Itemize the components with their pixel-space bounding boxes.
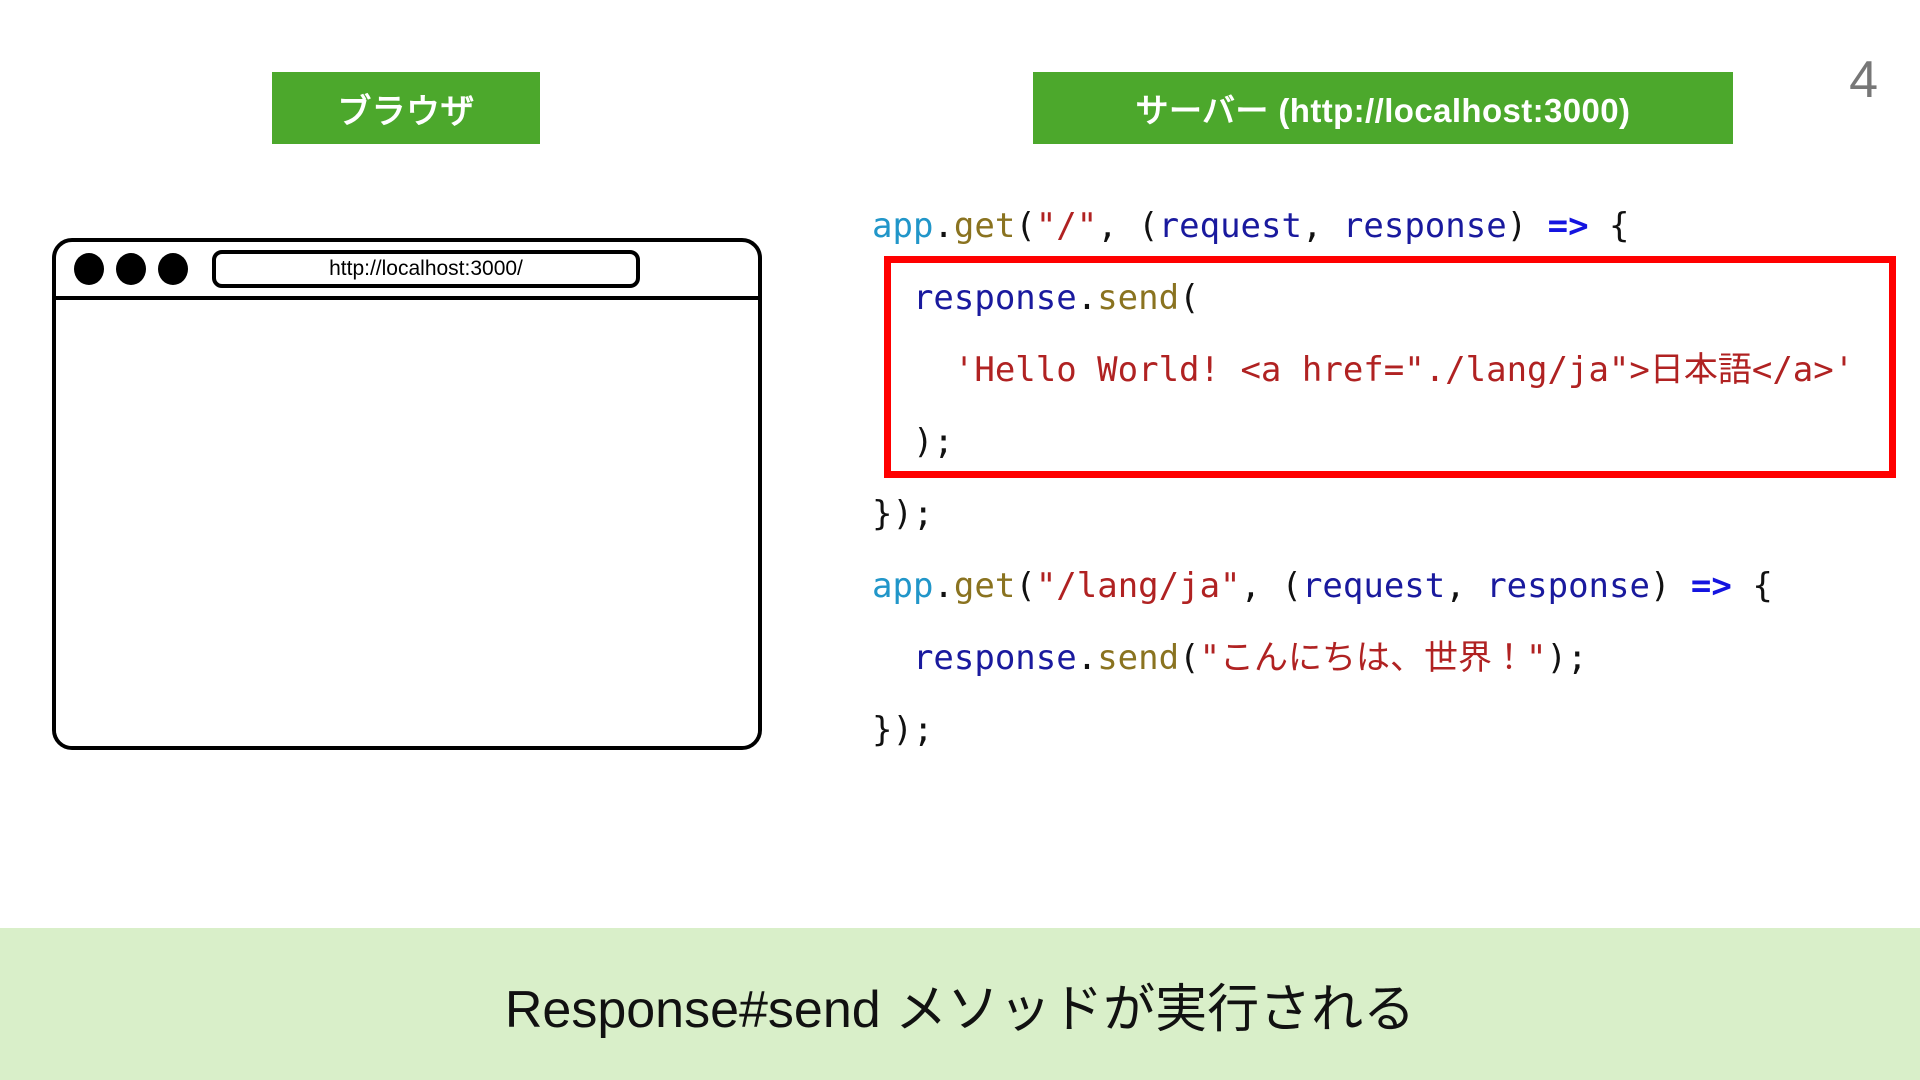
server-column-header-label: サーバー (http://localhost:3000) bbox=[1136, 84, 1631, 132]
traffic-light-close-icon[interactable] bbox=[74, 253, 104, 285]
code-token: , ( bbox=[1097, 206, 1158, 246]
traffic-light-minimize-icon[interactable] bbox=[116, 253, 146, 285]
page-number: 4 bbox=[1849, 54, 1878, 106]
code-line: }); bbox=[872, 478, 1892, 550]
code-token: => bbox=[1691, 566, 1732, 606]
code-token: app bbox=[872, 206, 933, 246]
browser-column-header-label: ブラウザ bbox=[337, 84, 475, 133]
code-token: ) bbox=[1507, 206, 1548, 246]
code-token: send bbox=[1097, 638, 1179, 678]
code-token: { bbox=[1732, 566, 1773, 606]
code-token: send bbox=[1097, 278, 1179, 318]
code-token bbox=[872, 350, 954, 390]
code-token: . bbox=[1077, 278, 1097, 318]
code-token: "/" bbox=[1036, 206, 1097, 246]
code-token: get bbox=[954, 206, 1015, 246]
code-token: get bbox=[954, 566, 1015, 606]
code-token: }); bbox=[872, 494, 933, 534]
code-token: ( bbox=[1015, 566, 1035, 606]
code-token bbox=[872, 638, 913, 678]
code-token: => bbox=[1548, 206, 1589, 246]
code-line: app.get("/lang/ja", (request, response) … bbox=[872, 550, 1892, 622]
browser-viewport bbox=[56, 300, 758, 746]
browser-url-text[interactable]: http://localhost:3000/ bbox=[329, 257, 523, 281]
code-token: ); bbox=[872, 422, 954, 462]
code-token: 'Hello World! <a href="./lang/ja">日本語</a… bbox=[954, 350, 1854, 390]
server-column-header: サーバー (http://localhost:3000) bbox=[1033, 72, 1733, 144]
code-token: ) bbox=[1650, 566, 1691, 606]
browser-window-mockup: http://localhost:3000/ bbox=[52, 238, 762, 750]
code-token: . bbox=[1077, 638, 1097, 678]
code-token: ( bbox=[1179, 638, 1199, 678]
code-line: 'Hello World! <a href="./lang/ja">日本語</a… bbox=[872, 334, 1892, 406]
code-token: "/lang/ja" bbox=[1036, 566, 1241, 606]
server-code-block: app.get("/", (request, response) => { re… bbox=[872, 190, 1892, 766]
code-line: }); bbox=[872, 694, 1892, 766]
code-token: response bbox=[1486, 566, 1650, 606]
code-token bbox=[872, 278, 913, 318]
code-token: , bbox=[1302, 206, 1343, 246]
code-line: ); bbox=[872, 406, 1892, 478]
browser-url-bar[interactable]: http://localhost:3000/ bbox=[212, 250, 640, 288]
code-line: response.send( bbox=[872, 262, 1892, 334]
code-token: response bbox=[913, 638, 1077, 678]
code-token: }); bbox=[872, 710, 933, 750]
code-token: , ( bbox=[1241, 566, 1302, 606]
code-token: response bbox=[1343, 206, 1507, 246]
code-line: response.send("こんにちは、世界！"); bbox=[872, 622, 1892, 694]
browser-column-header: ブラウザ bbox=[272, 72, 540, 144]
caption-banner: Response#send メソッドが実行される bbox=[0, 928, 1920, 1080]
code-token: ( bbox=[1015, 206, 1035, 246]
code-token: ); bbox=[1547, 638, 1588, 678]
code-token: response bbox=[913, 278, 1077, 318]
code-token: "こんにちは、世界！" bbox=[1200, 638, 1547, 678]
code-token: . bbox=[933, 566, 953, 606]
code-token: { bbox=[1589, 206, 1630, 246]
code-token: app bbox=[872, 566, 933, 606]
code-token: , bbox=[1445, 566, 1486, 606]
code-token: ( bbox=[1179, 278, 1199, 318]
code-token: . bbox=[933, 206, 953, 246]
caption-text: Response#send メソッドが実行される bbox=[505, 967, 1415, 1042]
code-token: request bbox=[1159, 206, 1302, 246]
browser-chrome-bar: http://localhost:3000/ bbox=[56, 242, 758, 300]
traffic-light-maximize-icon[interactable] bbox=[158, 253, 188, 285]
code-token: request bbox=[1302, 566, 1445, 606]
code-line: app.get("/", (request, response) => { bbox=[872, 190, 1892, 262]
